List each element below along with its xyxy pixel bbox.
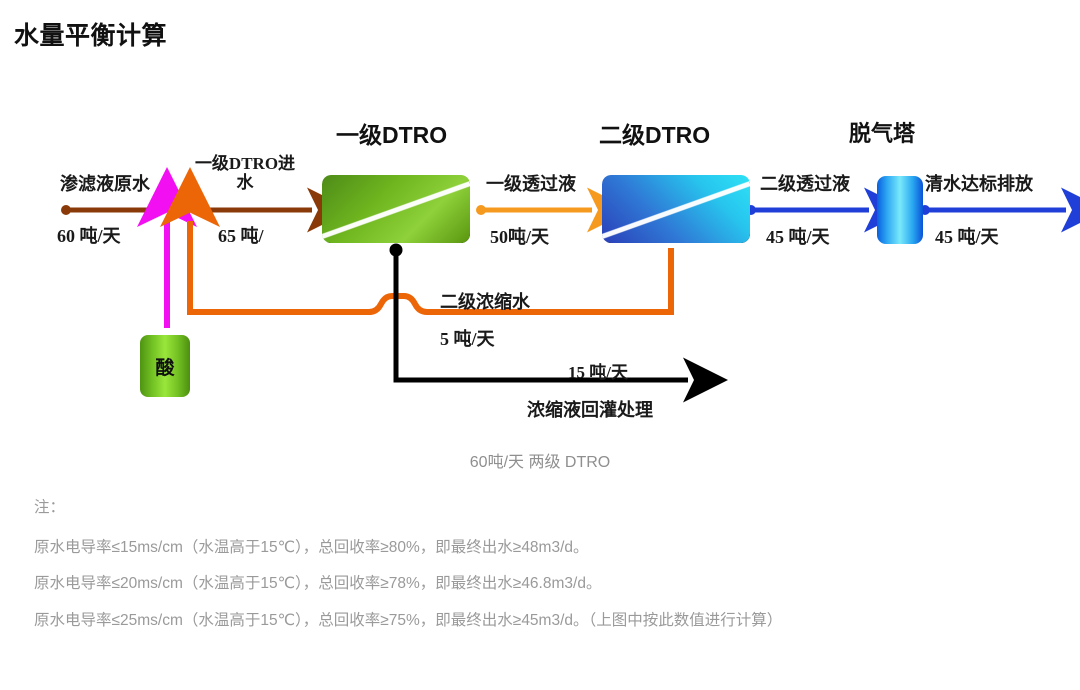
- page-root: 水量平衡计算: [0, 0, 1080, 690]
- stage2-concentrate-name: 二级浓缩水: [440, 292, 530, 312]
- degassing-tower-unit[interactable]: [877, 176, 923, 244]
- raw-influent-name: 渗滤液原水: [60, 174, 150, 194]
- notes-heading: 注：: [34, 500, 1054, 516]
- stage2-permeate-value: 45 吨/天: [766, 227, 830, 247]
- acid-tank-unit[interactable]: 酸: [140, 335, 190, 397]
- stage2-unit-body: [602, 175, 750, 243]
- diagram-caption: 60吨/天 两级 DTRO: [0, 448, 1080, 472]
- water-balance-diagram: 一级DTRO 二级DTRO 脱气塔 酸 渗滤液原水 60 吨/天 一级DTRO进…: [0, 80, 1080, 480]
- stage2-concentrate-value: 5 吨/天: [440, 329, 495, 349]
- note-line-3: 原水电导率≤25ms/cm（水温高于15℃），总回收率≥75%，即最终出水≥45…: [34, 613, 1054, 629]
- notes-section: 注： 原水电导率≤15ms/cm（水温高于15℃），总回收率≥80%，即最终出水…: [34, 500, 1054, 649]
- note-line-2: 原水电导率≤20ms/cm（水温高于15℃），总回收率≥78%，即最终出水≥46…: [34, 576, 1054, 592]
- reinject-value: 15 吨/天: [568, 363, 628, 382]
- stage1-title: 一级DTRO: [336, 116, 447, 150]
- stage2-title: 二级DTRO: [599, 116, 710, 150]
- note-line-1: 原水电导率≤15ms/cm（水温高于15℃），总回收率≥80%，即最终出水≥48…: [34, 540, 1054, 556]
- stage2-permeate-name: 二级透过液: [760, 174, 850, 194]
- stage2-dtro-unit[interactable]: [602, 175, 750, 243]
- stage2-unit-stripe: [602, 175, 750, 243]
- stage1-feed-name: 一级DTRO进水: [193, 154, 297, 192]
- stage1-unit-stripe: [322, 175, 470, 243]
- stage1-feed-value: 65 吨/: [218, 226, 264, 246]
- acid-tank-label: 酸: [155, 353, 174, 380]
- degasser-title: 脱气塔: [849, 116, 915, 148]
- clean-discharge-name: 清水达标排放: [925, 174, 1033, 194]
- stage1-permeate-name: 一级透过液: [486, 174, 576, 194]
- stage1-permeate-value: 50吨/天: [490, 227, 549, 247]
- clean-discharge-value: 45 吨/天: [935, 227, 999, 247]
- stage1-dtro-unit[interactable]: [322, 175, 470, 243]
- raw-influent-value: 60 吨/天: [57, 226, 121, 246]
- reinject-name: 浓缩液回灌处理: [527, 400, 653, 420]
- page-title: 水量平衡计算: [14, 16, 167, 52]
- stage1-unit-body: [322, 175, 470, 243]
